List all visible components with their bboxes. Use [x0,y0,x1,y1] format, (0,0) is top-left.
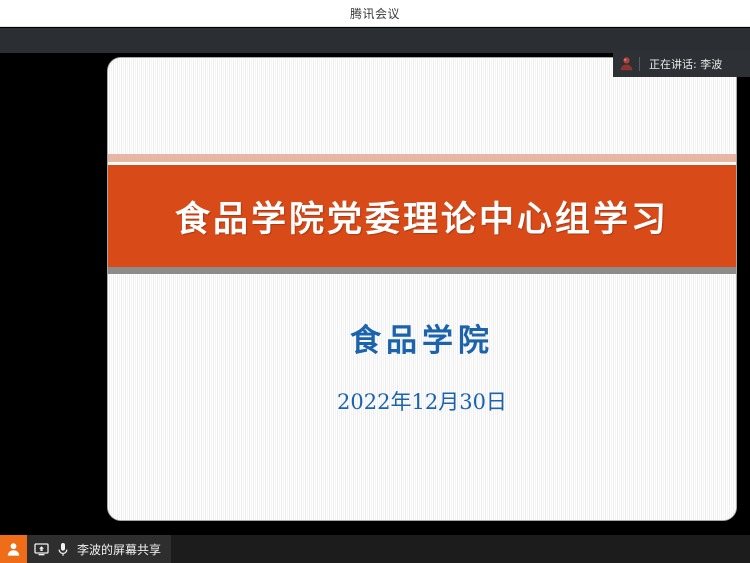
banner-gap [108,162,736,165]
taskbar-label: 李波的屏幕共享 [77,541,161,558]
slide-title-banner: 食品学院党委理论中心组学习 [108,154,736,274]
active-speaker-toast[interactable]: 正在讲话: 李波 [613,50,750,77]
slide-pinstripe-background [108,58,736,520]
window-title-bar: 腾讯会议 [0,0,750,27]
banner-top-accent [108,154,736,162]
window-title: 腾讯会议 [350,5,400,22]
active-speaker-label: 正在讲话: 李波 [640,56,722,72]
slide-organization: 食品学院 [108,323,736,360]
slide-date: 2022年12月30日 [108,386,736,416]
banner-body: 食品学院党委理论中心组学习 [108,165,736,267]
taskbar: 李波的屏幕共享 [0,535,750,563]
user-orange-icon[interactable] [0,535,27,563]
screen-share-task-chip[interactable]: 李波的屏幕共享 [27,535,171,563]
slide-subtitle-block: 食品学院 2022年12月30日 [108,323,736,416]
tencent-meeting-window: 腾讯会议 食品学院党委理论中心组学习 食品学院 2022年12月30日 [0,0,750,563]
microphone-icon[interactable] [55,541,71,557]
screen-share-icon[interactable] [33,541,49,557]
speaker-avatar-icon [613,50,639,77]
shared-slide: 食品学院党委理论中心组学习 食品学院 2022年12月30日 [107,57,737,521]
banner-bottom-accent [108,267,736,274]
slide-title: 食品学院党委理论中心组学习 [175,191,669,242]
